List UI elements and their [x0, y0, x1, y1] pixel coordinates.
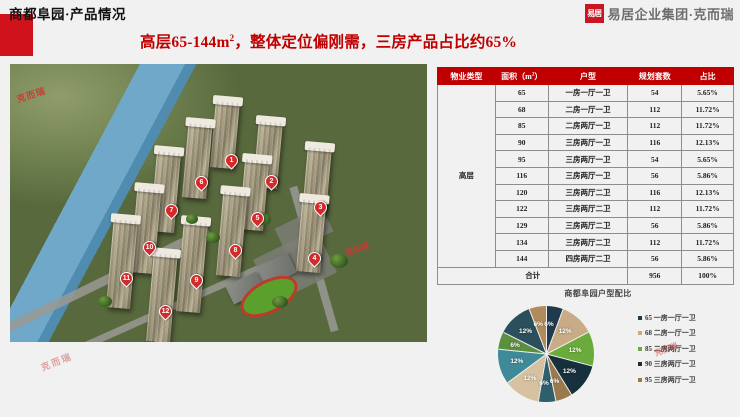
table-row: 高层65一房一厅一卫545.65%: [438, 85, 734, 102]
cell-percentage: 5.86%: [682, 217, 734, 234]
map-pin-label: 6: [196, 177, 207, 188]
cell-percentage: 11.72%: [682, 101, 734, 118]
cell-unit-type: 二房一厅一卫: [548, 101, 628, 118]
table-header: 物业类型 面积（m2） 户型 规划套数 占比: [438, 68, 734, 85]
cell-total-count: 956: [628, 267, 682, 284]
map-pin-label: 7: [166, 205, 177, 216]
cell-area: 90: [495, 134, 548, 151]
brand-mark-icon: 易居: [585, 4, 604, 23]
cell-planned-count: 116: [628, 184, 682, 201]
cell-planned-count: 56: [628, 217, 682, 234]
cell-area: 95: [495, 151, 548, 168]
map-pin-label: 8: [230, 245, 241, 256]
slide-canvas: 商都阜园·产品情况 高层65-144m2，整体定位偏刚需，三房产品占比约65% …: [0, 0, 740, 417]
project-rendering: 克而瑞 克而瑞 123456789101112: [10, 64, 427, 342]
map-pin-label: 2: [266, 176, 277, 187]
rendering-watermark-secondary: 克而瑞: [344, 240, 370, 259]
cell-percentage: 5.65%: [682, 151, 734, 168]
cell-percentage: 5.86%: [682, 167, 734, 184]
cell-percentage: 5.65%: [682, 85, 734, 102]
unit-mix-pie-chart: 商都阜园户型配比 6%12%12%12%6%6%12%12%6%12%6% 65…: [462, 288, 734, 414]
headline-prefix: 高层65-144m: [140, 34, 230, 51]
legend-label: 90 三房两厅一卫: [645, 359, 696, 369]
legend-item: 65 一房一厅一卫: [638, 313, 696, 323]
cell-percentage: 5.86%: [682, 250, 734, 267]
cell-area: 144: [495, 250, 548, 267]
cell-unit-type: 三房两厅二卫: [548, 201, 628, 218]
map-pin-label: 12: [160, 306, 171, 317]
pie-slice-label: 12%: [559, 328, 572, 335]
legend-swatch-icon: [638, 347, 642, 351]
chart-legend: 65 一房一厅一卫68 二房一厅一卫85 二房两厅一卫90 三房两厅一卫95 三…: [638, 313, 696, 385]
tree: [98, 296, 112, 307]
cell-unit-type: 三房两厅二卫: [548, 234, 628, 251]
cell-planned-count: 112: [628, 118, 682, 135]
legend-label: 68 二房一厅一卫: [645, 328, 696, 338]
cell-unit-type: 一房一厅一卫: [548, 85, 628, 102]
product-spec-table: 物业类型 面积（m2） 户型 规划套数 占比 高层65一房一厅一卫545.65%…: [437, 67, 734, 285]
tree: [272, 296, 288, 308]
column-header-area-tail: ）: [534, 72, 542, 81]
legend-label: 65 一房一厅一卫: [645, 313, 696, 323]
map-pin-label: 1: [226, 155, 237, 166]
rendering-image: 克而瑞 克而瑞: [10, 64, 427, 342]
cell-property-type: 高层: [438, 85, 496, 268]
cell-percentage: 11.72%: [682, 234, 734, 251]
map-pin-label: 9: [191, 275, 202, 286]
map-pin-label: 11: [121, 273, 132, 284]
chart-title: 商都阜园户型配比: [462, 288, 734, 299]
cell-planned-count: 54: [628, 151, 682, 168]
tree: [330, 254, 348, 268]
map-pin-label: 4: [309, 253, 320, 264]
cell-area: 68: [495, 101, 548, 118]
column-header-unit-type: 户型: [548, 68, 628, 85]
table-body: 高层65一房一厅一卫545.65%68二房一厅一卫11211.72%85二房两厅…: [438, 85, 734, 285]
rendering-watermark: 克而瑞: [15, 84, 48, 106]
page-watermark: 克而瑞: [39, 349, 74, 373]
column-header-area-text: 面积（m: [501, 72, 532, 81]
residential-tower: [176, 221, 208, 313]
column-header-percentage: 占比: [682, 68, 734, 85]
cell-planned-count: 56: [628, 250, 682, 267]
pie-slice-label: 12%: [519, 328, 532, 335]
legend-item: 68 二房一厅一卫: [638, 328, 696, 338]
pie-slice-label: 12%: [523, 375, 536, 382]
headline: 高层65-144m2，整体定位偏刚需，三房产品占比约65%: [140, 30, 517, 52]
cell-planned-count: 112: [628, 234, 682, 251]
column-header-property-type: 物业类型: [438, 68, 496, 85]
cell-unit-type: 四房两厅二卫: [548, 250, 628, 267]
pie-slice-label: 6%: [510, 342, 519, 349]
pie-slice-label: 12%: [569, 347, 582, 354]
legend-swatch-icon: [638, 316, 642, 320]
residential-tower: [106, 219, 138, 309]
cell-area: 122: [495, 201, 548, 218]
tree: [206, 232, 220, 243]
cell-percentage: 11.72%: [682, 118, 734, 135]
table-total-row: 合计956100%: [438, 267, 734, 284]
cell-unit-type: 三房两厅一卫: [548, 151, 628, 168]
cell-unit-type: 三房两厅一卫: [548, 134, 628, 151]
brand-name: 易居企业集团·克而瑞: [608, 4, 734, 23]
cell-unit-type: 三房两厅一卫: [548, 167, 628, 184]
pie-slice-divider: [546, 306, 547, 354]
cell-area: 85: [495, 118, 548, 135]
legend-label: 95 三房两厅一卫: [645, 375, 696, 385]
legend-label: 85 二房两厅一卫: [645, 344, 696, 354]
pie-slice-label: 12%: [510, 358, 523, 365]
map-pin-label: 3: [315, 202, 326, 213]
legend-item: 90 三房两厅一卫: [638, 359, 696, 369]
cell-area: 129: [495, 217, 548, 234]
cell-planned-count: 112: [628, 201, 682, 218]
cell-planned-count: 56: [628, 167, 682, 184]
cell-planned-count: 112: [628, 101, 682, 118]
column-header-area: 面积（m2）: [495, 68, 548, 85]
brand-logo: 易居 易居企业集团·克而瑞: [585, 4, 734, 23]
cell-planned-count: 54: [628, 85, 682, 102]
legend-swatch-icon: [638, 378, 642, 382]
cell-area: 65: [495, 85, 548, 102]
cell-unit-type: 三房两厅二卫: [548, 184, 628, 201]
cell-planned-count: 116: [628, 134, 682, 151]
legend-item: 95 三房两厅一卫: [638, 375, 696, 385]
legend-swatch-icon: [638, 362, 642, 366]
cell-area: 134: [495, 234, 548, 251]
cell-percentage: 11.72%: [682, 201, 734, 218]
residential-tower: [216, 191, 247, 277]
cell-total-percentage: 100%: [682, 267, 734, 284]
cell-percentage: 12.13%: [682, 134, 734, 151]
map-pin-label: 10: [144, 242, 155, 253]
legend-item: 85 二房两厅一卫: [638, 344, 696, 354]
tree: [186, 214, 198, 224]
cell-unit-type: 三房两厅二卫: [548, 217, 628, 234]
cell-unit-type: 二房两厅一卫: [548, 118, 628, 135]
cell-total-label: 合计: [438, 267, 628, 284]
cell-percentage: 12.13%: [682, 184, 734, 201]
legend-swatch-icon: [638, 331, 642, 335]
table-header-row: 物业类型 面积（m2） 户型 规划套数 占比: [438, 68, 734, 85]
cell-area: 120: [495, 184, 548, 201]
pie-slice-label: 12%: [563, 368, 576, 375]
column-header-planned-count: 规划套数: [628, 68, 682, 85]
cell-area: 116: [495, 167, 548, 184]
page-title: 商都阜园·产品情况: [9, 3, 126, 23]
headline-suffix: ，整体定位偏刚需，三房产品占比约65%: [234, 34, 517, 51]
map-pin-label: 5: [252, 213, 263, 224]
